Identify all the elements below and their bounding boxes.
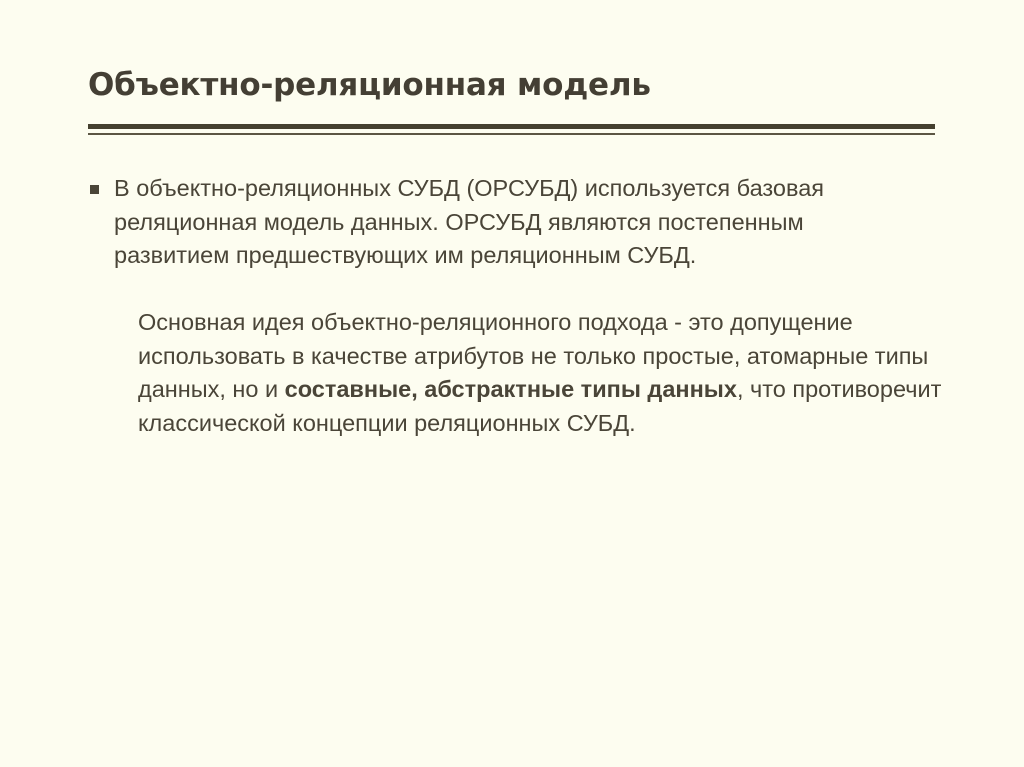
body-paragraph-2: Основная идея объектно-реляционного подх…: [138, 306, 960, 440]
slide-canvas: Объектно-реляционная модель В объектно-р…: [0, 0, 1024, 767]
slide-content: В объектно-реляционных СУБД (ОРСУБД) исп…: [90, 172, 960, 440]
slide-title-block: Объектно-реляционная модель: [88, 68, 938, 104]
title-divider: [88, 124, 935, 135]
list-item: В объектно-реляционных СУБД (ОРСУБД) исп…: [90, 172, 960, 440]
square-bullet-icon: [90, 185, 99, 194]
bullet-text-group: В объектно-реляционных СУБД (ОРСУБД) исп…: [114, 172, 960, 440]
divider-rule-thin: [88, 133, 935, 135]
body-paragraph-1: В объектно-реляционных СУБД (ОРСУБД) исп…: [114, 172, 914, 273]
page-title: Объектно-реляционная модель: [88, 68, 938, 104]
